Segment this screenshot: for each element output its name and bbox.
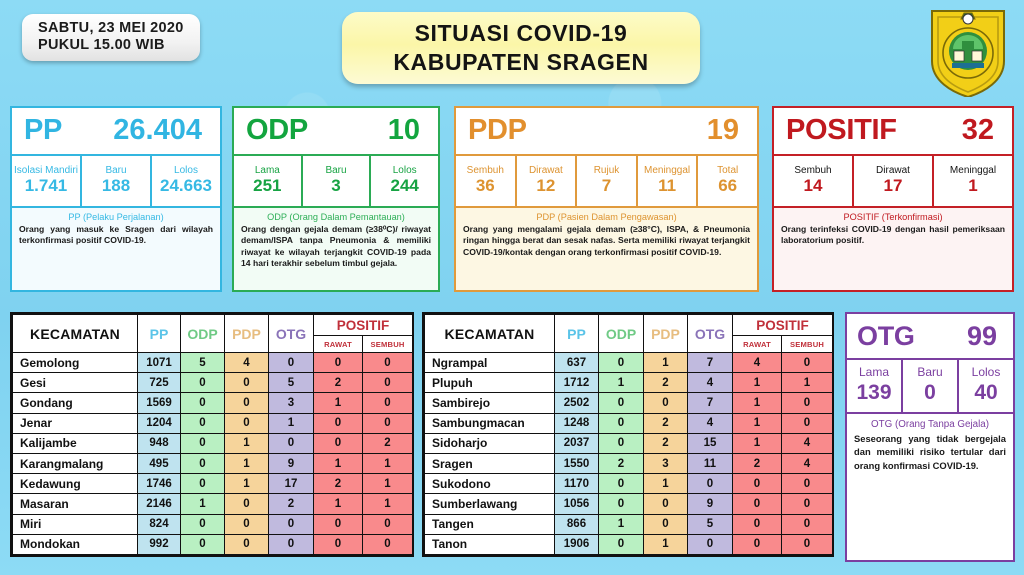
- cell-sembuh: 0: [363, 373, 413, 393]
- description-title: OTG (Orang Tanpa Gejala): [854, 419, 1006, 430]
- card-pdp-description: PDP (Pasien Dalam Pengawasan) Orang yang…: [456, 208, 757, 290]
- cell-otg: 17: [269, 474, 314, 494]
- col-header-rawat: RAWAT: [314, 336, 363, 353]
- cell-rawat: 0: [733, 514, 782, 534]
- cell-sembuh: 0: [782, 393, 833, 413]
- cell-kecamatan: Plupuh: [425, 373, 555, 393]
- cell-pp: 1170: [555, 474, 599, 494]
- col-header-sembuh: SEMBUH: [782, 336, 833, 353]
- data-table: KECAMATAN PP ODP PDP OTG POSITIF RAWAT S…: [12, 314, 413, 555]
- metric-value: 24.663: [153, 176, 219, 196]
- cell-otg: 15: [688, 433, 733, 453]
- card-positif-label: POSITIF: [786, 114, 897, 147]
- metric-isolasi-mandiri: Isolasi Mandiri 1.741: [12, 156, 82, 206]
- cell-kecamatan: Sukodono: [425, 474, 555, 494]
- cell-pdp: 2: [644, 433, 688, 453]
- cell-pp: 2502: [555, 393, 599, 413]
- cell-sembuh: 0: [782, 514, 833, 534]
- col-header-rawat: RAWAT: [733, 336, 782, 353]
- cell-pdp: 0: [225, 514, 269, 534]
- cell-odp: 1: [599, 514, 644, 534]
- cell-pdp: 0: [644, 393, 688, 413]
- cell-sembuh: 4: [782, 453, 833, 473]
- cell-pp: 1071: [138, 353, 181, 373]
- cell-rawat: 0: [314, 433, 363, 453]
- card-pp-description: PP (Pelaku Perjalanan) Orang yang masuk …: [12, 208, 220, 290]
- cell-odp: 0: [599, 393, 644, 413]
- metric-label: Lama: [848, 366, 900, 380]
- cell-sembuh: 4: [782, 433, 833, 453]
- metric-label: Rujuk: [578, 165, 635, 177]
- cell-odp: 0: [599, 353, 644, 373]
- cell-sembuh: 0: [782, 353, 833, 373]
- cell-sembuh: 2: [363, 433, 413, 453]
- card-pdp-label: PDP: [468, 114, 527, 147]
- metric-label: Lama: [235, 165, 300, 177]
- col-header-otg: OTG: [688, 315, 733, 353]
- cell-rawat: 1: [733, 433, 782, 453]
- cell-rawat: 2: [314, 474, 363, 494]
- card-pdp-value: 19: [707, 114, 745, 147]
- metric-rujuk: Rujuk 7: [577, 156, 638, 206]
- card-pdp-metrics: Sembuh 36 Dirawat 12 Rujuk 7 Meninggal 1…: [456, 156, 757, 208]
- cell-kecamatan: Mondokan: [13, 534, 138, 554]
- cell-sembuh: 0: [363, 353, 413, 373]
- cell-odp: 0: [599, 413, 644, 433]
- table-row: Plupuh171212411: [425, 373, 833, 393]
- cell-odp: 0: [181, 373, 225, 393]
- col-header-positif: POSITIF: [314, 315, 413, 336]
- cell-pp: 1550: [555, 453, 599, 473]
- cell-kecamatan: Sumberlawang: [425, 494, 555, 514]
- card-positif-value: 32: [962, 114, 1000, 147]
- cell-pp: 1906: [555, 534, 599, 554]
- cell-rawat: 2: [733, 453, 782, 473]
- cell-otg: 0: [688, 474, 733, 494]
- cell-pp: 2037: [555, 433, 599, 453]
- cell-kecamatan: Sidoharjo: [425, 433, 555, 453]
- metric-sembuh: Sembuh 14: [774, 156, 854, 206]
- cell-sembuh: 1: [363, 453, 413, 473]
- cell-rawat: 0: [733, 474, 782, 494]
- cell-pp: 1712: [555, 373, 599, 393]
- cell-otg: 2: [269, 494, 314, 514]
- metric-lolos: Lolos 40: [959, 360, 1013, 412]
- cell-kecamatan: Masaran: [13, 494, 138, 514]
- metric-value: 11: [639, 176, 696, 196]
- metric-value: 244: [372, 176, 437, 196]
- cell-odp: 0: [599, 534, 644, 554]
- cell-otg: 5: [688, 514, 733, 534]
- cell-rawat: 1: [314, 393, 363, 413]
- cell-sembuh: 0: [782, 494, 833, 514]
- cell-odp: 1: [599, 373, 644, 393]
- title-line-2: KABUPATEN SRAGEN: [393, 48, 648, 77]
- cell-pdp: 0: [225, 534, 269, 554]
- cell-sembuh: 1: [363, 494, 413, 514]
- cell-otg: 7: [688, 353, 733, 373]
- cell-pp: 948: [138, 433, 181, 453]
- cell-otg: 7: [688, 393, 733, 413]
- cell-odp: 0: [599, 433, 644, 453]
- cell-odp: 0: [181, 474, 225, 494]
- table-row: Karangmalang49501911: [13, 453, 413, 473]
- page-title: SITUASI COVID-19 KABUPATEN SRAGEN: [342, 12, 700, 84]
- cell-rawat: 1: [314, 453, 363, 473]
- cell-pdp: 0: [225, 494, 269, 514]
- table-row: Miri82400000: [13, 514, 413, 534]
- cell-rawat: 2: [314, 373, 363, 393]
- cell-rawat: 1: [733, 393, 782, 413]
- metric-label: Sembuh: [775, 165, 851, 177]
- col-header-odp: ODP: [181, 315, 225, 353]
- cell-kecamatan: Kedawung: [13, 474, 138, 494]
- col-header-pp: PP: [138, 315, 181, 353]
- cell-odp: 5: [181, 353, 225, 373]
- cell-odp: 2: [599, 453, 644, 473]
- table-row: Sambirejo250200710: [425, 393, 833, 413]
- cell-otg: 5: [269, 373, 314, 393]
- cell-otg: 4: [688, 373, 733, 393]
- card-odp-description: ODP (Orang Dalam Pemantauan) Orang denga…: [234, 208, 438, 290]
- metric-value: 0: [904, 380, 956, 405]
- col-header-pdp: PDP: [644, 315, 688, 353]
- summary-card-pp: PP 26.404 Isolasi Mandiri 1.741 Baru 188…: [10, 106, 222, 292]
- cell-pp: 1204: [138, 413, 181, 433]
- cell-otg: 0: [269, 353, 314, 373]
- col-header-kecamatan: KECAMATAN: [13, 315, 138, 353]
- cell-odp: 1: [181, 494, 225, 514]
- metric-meninggal: Meninggal 1: [934, 156, 1012, 206]
- cell-kecamatan: Tangen: [425, 514, 555, 534]
- description-title: POSITIF (Terkonfirmasi): [781, 212, 1005, 222]
- cell-pp: 1746: [138, 474, 181, 494]
- metric-label: Baru: [304, 165, 369, 177]
- metric-value: 12: [518, 176, 575, 196]
- summary-card-pdp: PDP 19 Sembuh 36 Dirawat 12 Rujuk 7 Meni…: [454, 106, 759, 292]
- metric-value: 1: [935, 176, 1011, 196]
- card-otg-label: OTG: [857, 321, 915, 352]
- metric-baru: Baru 3: [303, 156, 372, 206]
- cell-pp: 2146: [138, 494, 181, 514]
- summary-card-positif: POSITIF 32 Sembuh 14 Dirawat 17 Meningga…: [772, 106, 1014, 292]
- card-odp-metrics: Lama 251 Baru 3 Lolos 244: [234, 156, 438, 208]
- cell-otg: 0: [269, 534, 314, 554]
- table-row: Mondokan99200000: [13, 534, 413, 554]
- cell-odp: 0: [181, 433, 225, 453]
- cell-sembuh: 1: [782, 373, 833, 393]
- metric-lama: Lama 251: [234, 156, 303, 206]
- cell-rawat: 0: [314, 514, 363, 534]
- cell-pp: 725: [138, 373, 181, 393]
- card-odp-value: 10: [388, 114, 426, 147]
- cell-kecamatan: Gemolong: [13, 353, 138, 373]
- cell-pp: 1248: [555, 413, 599, 433]
- cell-kecamatan: Miri: [13, 514, 138, 534]
- cell-otg: 3: [269, 393, 314, 413]
- cell-pdp: 2: [644, 373, 688, 393]
- table-row: Sidoharjo2037021514: [425, 433, 833, 453]
- cell-otg: 0: [688, 534, 733, 554]
- table-row: Sragen1550231124: [425, 453, 833, 473]
- table-row: Masaran214610211: [13, 494, 413, 514]
- cell-rawat: 1: [733, 413, 782, 433]
- cell-kecamatan: Jenar: [13, 413, 138, 433]
- card-pp-metrics: Isolasi Mandiri 1.741 Baru 188 Lolos 24.…: [12, 156, 220, 208]
- cell-pdp: 1: [644, 534, 688, 554]
- cell-otg: 0: [269, 514, 314, 534]
- col-header-odp: ODP: [599, 315, 644, 353]
- cell-sembuh: 0: [363, 413, 413, 433]
- cell-pdp: 0: [644, 514, 688, 534]
- metric-value: 139: [848, 380, 900, 405]
- description-body: Orang terinfeksi COVID-19 dengan hasil p…: [781, 224, 1005, 247]
- table-row: Gesi72500520: [13, 373, 413, 393]
- cell-odp: 0: [181, 514, 225, 534]
- metric-lolos: Lolos 24.663: [152, 156, 220, 206]
- cell-pdp: 1: [644, 474, 688, 494]
- metric-label: Total: [699, 165, 756, 177]
- description-body: Orang yang mengalami gejala demam (≥38°C…: [463, 224, 750, 258]
- cell-pdp: 0: [225, 413, 269, 433]
- table-row: Tanon190601000: [425, 534, 833, 554]
- cell-otg: 1: [269, 413, 314, 433]
- cell-pdp: 3: [644, 453, 688, 473]
- cell-sembuh: 0: [363, 534, 413, 554]
- data-table: KECAMATAN PP ODP PDP OTG POSITIF RAWAT S…: [424, 314, 833, 555]
- cell-pdp: 0: [644, 494, 688, 514]
- title-line-1: SITUASI COVID-19: [415, 19, 628, 48]
- cell-pp: 866: [555, 514, 599, 534]
- table-row: Kalijambe94801002: [13, 433, 413, 453]
- metric-label: Meninggal: [639, 165, 696, 177]
- table-row: Gondang156900310: [13, 393, 413, 413]
- cell-otg: 11: [688, 453, 733, 473]
- col-header-kecamatan: KECAMATAN: [425, 315, 555, 353]
- col-header-pdp: PDP: [225, 315, 269, 353]
- cell-kecamatan: Tanon: [425, 534, 555, 554]
- cell-rawat: 1: [733, 373, 782, 393]
- cell-pp: 992: [138, 534, 181, 554]
- metric-value: 17: [855, 176, 931, 196]
- cell-sembuh: 0: [782, 534, 833, 554]
- card-odp-headline: ODP 10: [234, 108, 438, 156]
- metric-lama: Lama 139: [847, 360, 903, 412]
- card-odp-label: ODP: [246, 114, 308, 147]
- metric-dirawat: Dirawat 17: [854, 156, 934, 206]
- metric-total: Total 66: [698, 156, 757, 206]
- metric-value: 251: [235, 176, 300, 196]
- cell-sembuh: 0: [363, 514, 413, 534]
- cell-sembuh: 1: [363, 474, 413, 494]
- date-line: SABTU, 23 MEI 2020: [38, 20, 184, 37]
- metric-label: Baru: [83, 165, 149, 177]
- table-row: Jenar120400100: [13, 413, 413, 433]
- cell-pp: 637: [555, 353, 599, 373]
- table-row: Gemolong107154000: [13, 353, 413, 373]
- cell-kecamatan: Sambirejo: [425, 393, 555, 413]
- cell-odp: 0: [599, 494, 644, 514]
- cell-pdp: 1: [225, 433, 269, 453]
- description-title: PDP (Pasien Dalam Pengawasan): [463, 212, 750, 222]
- metric-label: Meninggal: [935, 165, 1011, 177]
- card-otg-metrics: Lama 139 Baru 0 Lolos 40: [847, 360, 1013, 414]
- cell-sembuh: 0: [782, 413, 833, 433]
- card-positif-description: POSITIF (Terkonfirmasi) Orang terinfeksi…: [774, 208, 1012, 290]
- date-time-badge: SABTU, 23 MEI 2020 PUKUL 15.00 WIB: [22, 14, 200, 61]
- metric-label: Dirawat: [855, 165, 931, 177]
- cell-kecamatan: Kalijambe: [13, 433, 138, 453]
- metric-dirawat: Dirawat 12: [517, 156, 578, 206]
- cell-rawat: 0: [733, 494, 782, 514]
- cell-pdp: 4: [225, 353, 269, 373]
- col-header-sembuh: SEMBUH: [363, 336, 413, 353]
- metric-baru: Baru 0: [903, 360, 959, 412]
- table-body-right: Ngrampal63701740Plupuh171212411Sambirejo…: [425, 353, 833, 555]
- card-otg-description: OTG (Orang Tanpa Gejala) Seseorang yang …: [847, 414, 1013, 560]
- card-otg-headline: OTG 99: [847, 314, 1013, 360]
- cell-kecamatan: Ngrampal: [425, 353, 555, 373]
- metric-value: 36: [457, 176, 514, 196]
- cell-rawat: 0: [314, 353, 363, 373]
- cell-odp: 0: [181, 393, 225, 413]
- metric-meninggal: Meninggal 11: [638, 156, 699, 206]
- metric-sembuh: Sembuh 36: [456, 156, 517, 206]
- table-row: Sambungmacan124802410: [425, 413, 833, 433]
- description-title: PP (Pelaku Perjalanan): [19, 212, 213, 222]
- cell-rawat: 0: [733, 534, 782, 554]
- cell-pdp: 1: [225, 453, 269, 473]
- table-row: Sukodono117001000: [425, 474, 833, 494]
- cell-pdp: 0: [225, 373, 269, 393]
- card-pp-headline: PP 26.404: [12, 108, 220, 156]
- cell-kecamatan: Gesi: [13, 373, 138, 393]
- card-positif-headline: POSITIF 32: [774, 108, 1012, 156]
- cell-kecamatan: Gondang: [13, 393, 138, 413]
- card-pdp-headline: PDP 19: [456, 108, 757, 156]
- table-row: Ngrampal63701740: [425, 353, 833, 373]
- table-row: Sumberlawang105600900: [425, 494, 833, 514]
- table-row: Kedawung1746011721: [13, 474, 413, 494]
- cell-pdp: 2: [644, 413, 688, 433]
- cell-pdp: 1: [225, 474, 269, 494]
- cell-pp: 824: [138, 514, 181, 534]
- description-title: ODP (Orang Dalam Pemantauan): [241, 212, 431, 222]
- col-header-otg: OTG: [269, 315, 314, 353]
- metric-value: 66: [699, 176, 756, 196]
- summary-card-odp: ODP 10 Lama 251 Baru 3 Lolos 244 ODP (Or…: [232, 106, 440, 292]
- cell-otg: 4: [688, 413, 733, 433]
- cell-kecamatan: Karangmalang: [13, 453, 138, 473]
- description-body: Orang dengan gejala demam (≥38⁰C)/ riway…: [241, 224, 431, 270]
- metric-value: 3: [304, 176, 369, 196]
- cell-rawat: 1: [314, 494, 363, 514]
- metric-label: Dirawat: [518, 165, 575, 177]
- cell-odp: 0: [181, 453, 225, 473]
- cell-odp: 0: [599, 474, 644, 494]
- metric-baru: Baru 188: [82, 156, 152, 206]
- cell-sembuh: 0: [782, 474, 833, 494]
- sragen-regency-crest-icon: [926, 5, 1010, 97]
- cell-rawat: 4: [733, 353, 782, 373]
- cell-pdp: 0: [225, 393, 269, 413]
- cell-rawat: 0: [314, 534, 363, 554]
- metric-label: Lolos: [372, 165, 437, 177]
- cell-odp: 0: [181, 534, 225, 554]
- page-header: SABTU, 23 MEI 2020 PUKUL 15.00 WIB SITUA…: [0, 0, 1024, 104]
- cell-odp: 0: [181, 413, 225, 433]
- cell-pp: 495: [138, 453, 181, 473]
- metric-label: Sembuh: [457, 165, 514, 177]
- kecamatan-table-left: KECAMATAN PP ODP PDP OTG POSITIF RAWAT S…: [10, 312, 414, 557]
- description-body: Orang yang masuk ke Sragen dari wilayah …: [19, 224, 213, 247]
- metric-value: 14: [775, 176, 851, 196]
- cell-sembuh: 0: [363, 393, 413, 413]
- kecamatan-table-right: KECAMATAN PP ODP PDP OTG POSITIF RAWAT S…: [422, 312, 834, 557]
- metric-label: Lolos: [153, 165, 219, 177]
- metric-value: 188: [83, 176, 149, 196]
- cell-otg: 9: [688, 494, 733, 514]
- metric-label: Isolasi Mandiri: [13, 165, 79, 177]
- time-line: PUKUL 15.00 WIB: [38, 37, 184, 54]
- cell-pp: 1056: [555, 494, 599, 514]
- card-positif-metrics: Sembuh 14 Dirawat 17 Meninggal 1: [774, 156, 1012, 208]
- cell-otg: 9: [269, 453, 314, 473]
- card-otg-value: 99: [967, 321, 1003, 352]
- metric-label: Lolos: [960, 366, 1012, 380]
- cell-otg: 0: [269, 433, 314, 453]
- metric-label: Baru: [904, 366, 956, 380]
- cell-kecamatan: Sragen: [425, 453, 555, 473]
- card-pp-label: PP: [24, 114, 62, 147]
- metric-value: 7: [578, 176, 635, 196]
- table-row: Tangen86610500: [425, 514, 833, 534]
- card-pp-value: 26.404: [113, 114, 208, 147]
- table-body-left: Gemolong107154000Gesi72500520Gondang1569…: [13, 353, 413, 555]
- cell-pp: 1569: [138, 393, 181, 413]
- cell-pdp: 1: [644, 353, 688, 373]
- metric-value: 40: [960, 380, 1012, 405]
- metric-value: 1.741: [13, 176, 79, 196]
- cell-rawat: 0: [314, 413, 363, 433]
- col-header-positif: POSITIF: [733, 315, 833, 336]
- metric-lolos: Lolos 244: [371, 156, 438, 206]
- summary-card-otg: OTG 99 Lama 139 Baru 0 Lolos 40 OTG (Ora…: [845, 312, 1015, 562]
- col-header-pp: PP: [555, 315, 599, 353]
- description-body: Seseorang yang tidak bergejala dan memil…: [854, 432, 1006, 472]
- cell-kecamatan: Sambungmacan: [425, 413, 555, 433]
